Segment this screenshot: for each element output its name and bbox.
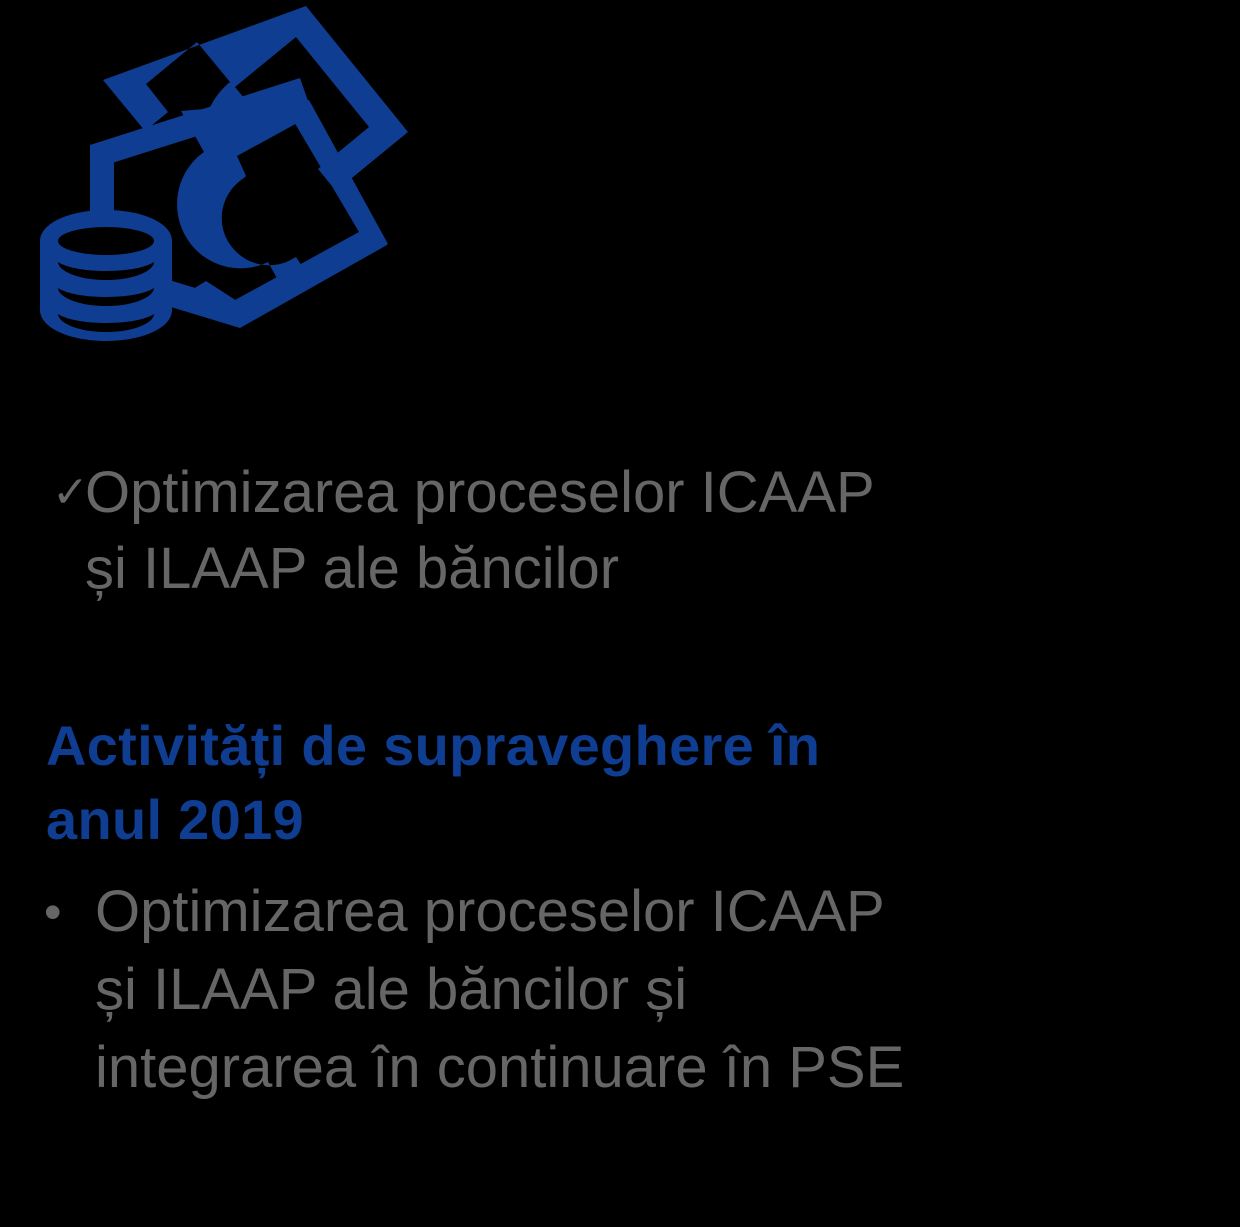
section-heading-line-2: anul 2019 [46,783,1146,857]
list-item-dot-text: Optimizarea proceselor ICAAP și ILAAP al… [95,873,904,1107]
list-item-check-line-2: și ILAAP ale băncilor [85,531,875,607]
list-item-dot-line-2: și ILAAP ale băncilor și [95,951,904,1029]
checkmark-bullet-icon: ✓ [0,455,85,531]
dot-bullet-icon: • [0,873,95,951]
money-banknotes-coins-icon [28,0,428,360]
content-column: ✓ Optimizarea proceselor ICAAP și ILAAP … [0,455,1240,1107]
list-item-dot-line-3: integrarea în continuare în PSE [95,1029,904,1107]
list-item-check-line-1: Optimizarea proceselor ICAAP [85,455,875,531]
list-item-check-text: Optimizarea proceselor ICAAP și ILAAP al… [85,455,875,607]
section-heading-line-1: Activități de supraveghere în [46,709,1146,783]
list-item-check: ✓ Optimizarea proceselor ICAAP și ILAAP … [0,455,1240,607]
section-heading: Activități de supraveghere în anul 2019 [0,709,1146,857]
list-item-dot-line-1: Optimizarea proceselor ICAAP [95,873,904,951]
coin-stack-shape [40,210,172,341]
list-item-dot: • Optimizarea proceselor ICAAP și ILAAP … [0,873,1240,1107]
